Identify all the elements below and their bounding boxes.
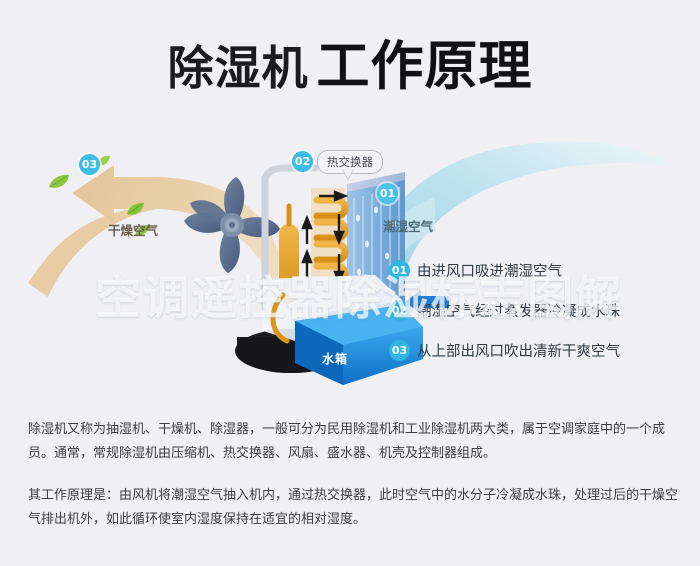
step-label: 从上部出风口吹出清新干爽空气: [417, 340, 620, 361]
step-item: 01 由进风口吸进潮湿空气: [389, 250, 689, 290]
step-item: 03 从上部出风口吹出清新干爽空气: [389, 330, 689, 370]
infographic-page: 除湿机工作原理: [0, 0, 700, 566]
step-number: 01: [389, 260, 410, 281]
label-dry-air: 干燥空气: [108, 220, 158, 239]
step-list: 01 由进风口吸进潮湿空气 02 潮湿空气经过蒸发器冷凝成水珠 03 从上部出风…: [389, 250, 689, 370]
paragraph-1: 除湿机又称为抽湿机、干燥机、除湿器，一般可分为民用除湿机和工业除湿机两大类，属于…: [28, 418, 678, 466]
label-humid-air: 潮湿空气: [383, 216, 433, 235]
page-title: 除湿机工作原理: [0, 24, 700, 100]
step-item: 02 潮湿空气经过蒸发器冷凝成水珠: [389, 290, 689, 330]
title-part-1: 除湿机: [168, 41, 309, 95]
badge-humid-air: 01: [377, 183, 398, 204]
callout-tail: [342, 168, 354, 179]
body-copy: 除湿机又称为抽湿机、干燥机、除湿器，一般可分为民用除湿机和工业除湿机两大类，属于…: [28, 418, 678, 550]
step-label: 由进风口吸进潮湿空气: [417, 260, 562, 281]
step-label: 潮湿空气经过蒸发器冷凝成水珠: [417, 300, 620, 321]
step-number: 02: [389, 300, 410, 321]
leaf-icon: [126, 202, 145, 217]
badge-dry-air: 03: [79, 154, 100, 175]
title-part-2: 工作原理: [317, 36, 533, 97]
badge-heat-exchanger: 02: [292, 151, 313, 172]
leaf-icon: [48, 174, 70, 190]
label-water-tank: 水箱: [322, 350, 348, 367]
step-number: 03: [389, 340, 410, 361]
paragraph-2: 其工作原理是：由风机将潮湿空气抽入机内，通过热交换器，此时空气中的水分子冷凝成水…: [28, 484, 678, 532]
